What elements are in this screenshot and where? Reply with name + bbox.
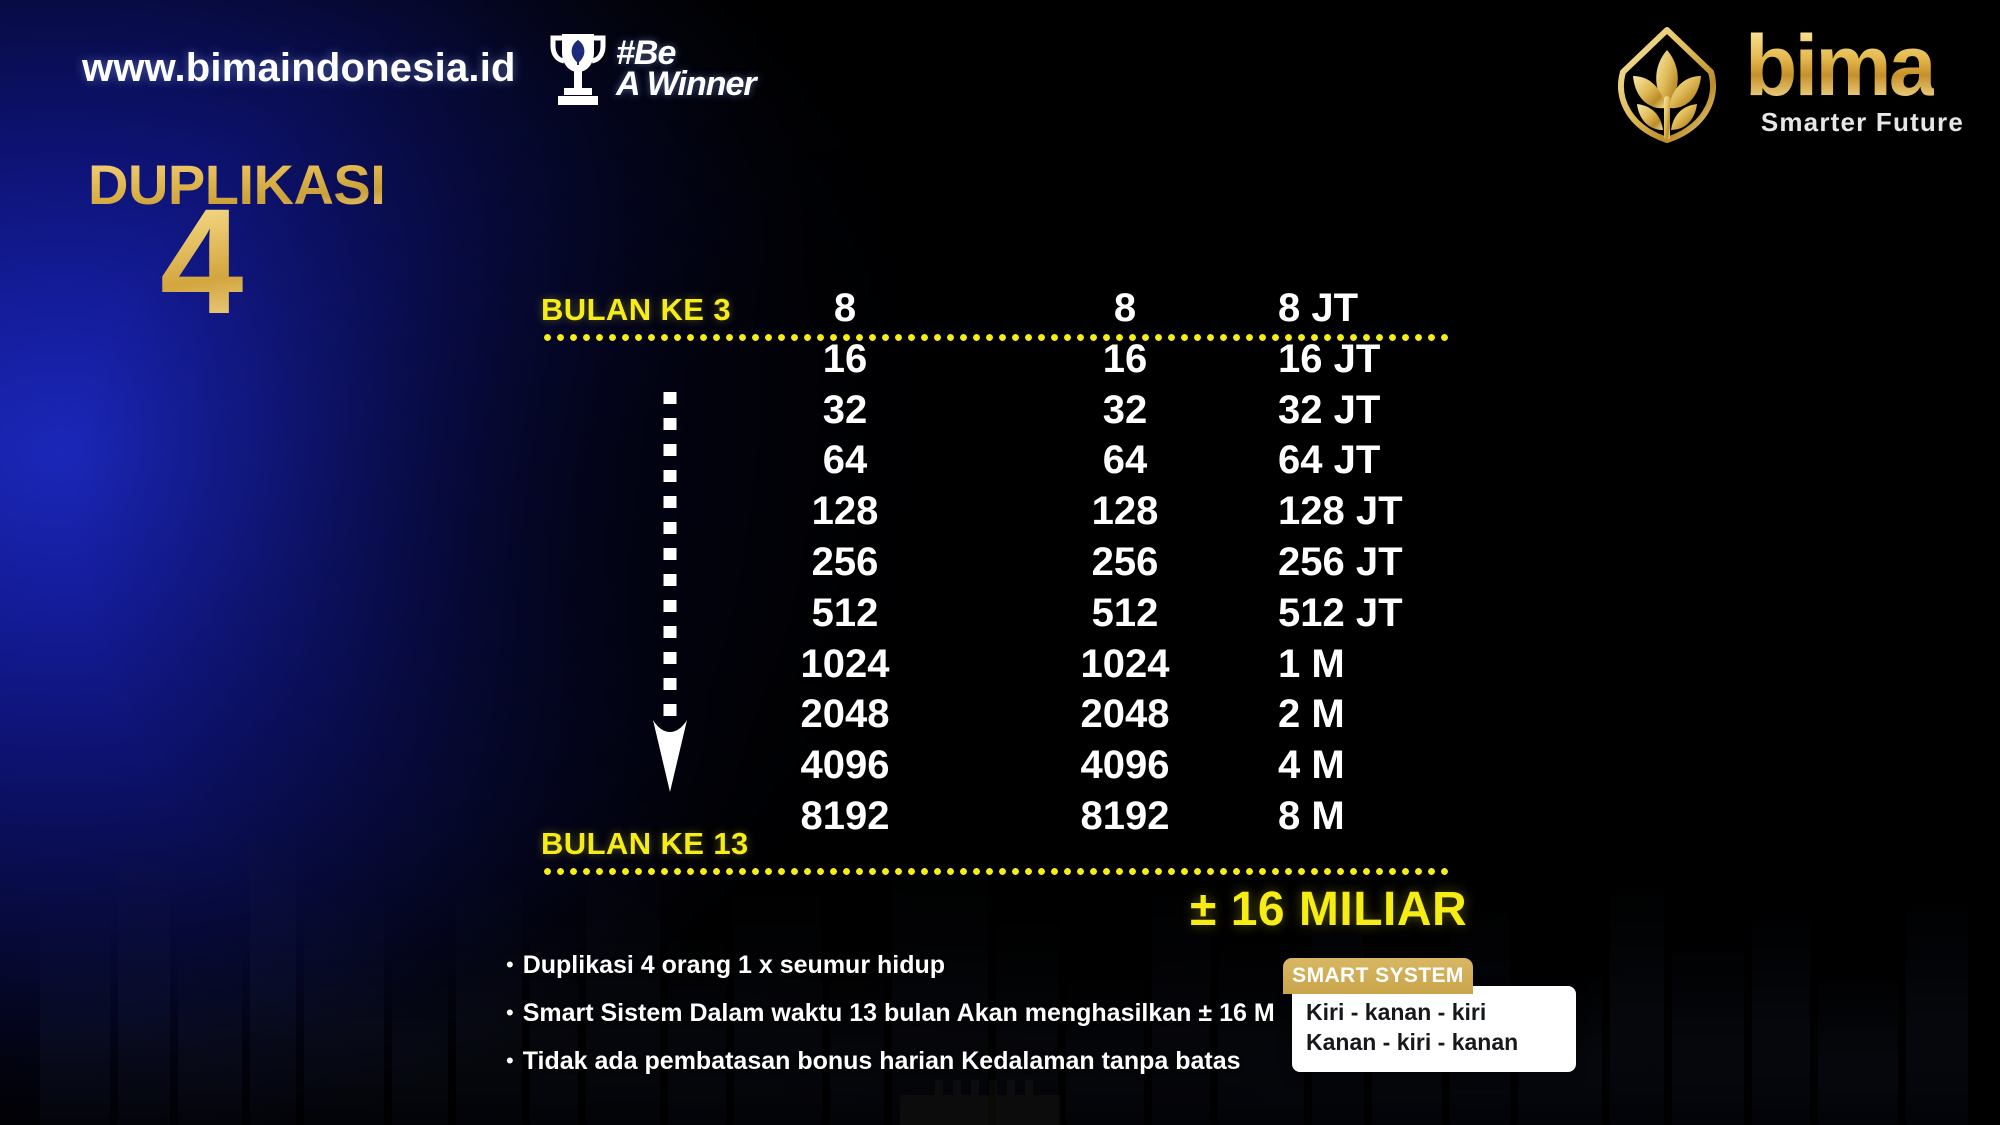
downline-count-right: 1024 <box>1020 642 1230 687</box>
smart-system-tab-label: SMART SYSTEM <box>1292 964 1464 988</box>
divider-bottom <box>541 868 1453 875</box>
table-row: 323232 JT <box>0 388 2000 440</box>
table-row: 128128128 JT <box>0 489 2000 541</box>
list-item-label: Duplikasi 4 orang 1 x seumur hidup <box>523 950 945 980</box>
income-value: 16 JT <box>1278 337 1380 382</box>
downline-count-right: 32 <box>1020 388 1230 433</box>
downline-count-left: 2048 <box>740 692 950 737</box>
downline-count-right: 16 <box>1020 337 1230 382</box>
slide-canvas: www.bimaindonesia.id #Be A Winner <box>0 0 2000 1125</box>
list-item-label: Tidak ada pembatasan bonus harian Kedala… <box>523 1046 1241 1076</box>
downline-count-left: 4096 <box>740 743 950 788</box>
downline-count-right: 512 <box>1020 591 1230 636</box>
income-value: 128 JT <box>1278 489 1403 534</box>
downline-count-left: 16 <box>740 337 950 382</box>
divider-top <box>541 334 1453 341</box>
table-row: 256256256 JT <box>0 540 2000 592</box>
bima-leaf-icon <box>1603 20 1731 148</box>
total-amount: ± 16 MILIAR <box>1190 882 1467 937</box>
income-value: 2 M <box>1278 692 1345 737</box>
be-a-winner-badge: #Be A Winner <box>548 30 756 108</box>
downline-count-left: 1024 <box>740 642 950 687</box>
bullet-dot-icon: • <box>506 1046 514 1076</box>
income-value: 1 M <box>1278 642 1345 687</box>
table-row: 102410241 M <box>0 642 2000 694</box>
bullet-dot-icon: • <box>506 998 514 1028</box>
bullet-dot-icon: • <box>506 950 514 980</box>
smart-system-line-2: Kanan - kiri - kanan <box>1306 1028 1562 1058</box>
benefits-list: •Duplikasi 4 orang 1 x seumur hidup•Smar… <box>506 950 1266 1094</box>
total-value: 16 MILIAR <box>1231 883 1468 936</box>
label-bulan-ke-3: BULAN KE 3 <box>541 292 731 328</box>
downline-count-right: 2048 <box>1020 692 1230 737</box>
smart-system-line-1: Kiri - kanan - kiri <box>1306 998 1562 1028</box>
smart-system-tab: SMART SYSTEM <box>1283 958 1473 994</box>
income-value: 512 JT <box>1278 591 1403 636</box>
list-item-label: Smart Sistem Dalam waktu 13 bulan Akan m… <box>523 998 1275 1028</box>
winner-line-2: A Winner <box>616 69 756 100</box>
downline-count-right: 256 <box>1020 540 1230 585</box>
downline-count-right: 8 <box>1020 286 1230 331</box>
downline-count-right: 8192 <box>1020 794 1230 839</box>
label-bulan-ke-13: BULAN KE 13 <box>541 826 749 862</box>
bima-logo: bima Smarter Future <box>1603 20 1964 148</box>
table-row: 888 JT <box>0 286 2000 338</box>
be-a-winner-text: #Be A Winner <box>616 38 756 101</box>
trophy-icon <box>548 30 608 108</box>
page-title-number: 4 <box>160 186 243 336</box>
plus-minus-sign: ± <box>1190 883 1217 936</box>
downline-count-right: 128 <box>1020 489 1230 534</box>
downline-count-right: 64 <box>1020 438 1230 483</box>
downline-count-left: 512 <box>740 591 950 636</box>
bima-wordmark: bima Smarter Future <box>1745 30 1964 139</box>
list-item: •Duplikasi 4 orang 1 x seumur hidup <box>506 950 1266 980</box>
table-row: 646464 JT <box>0 438 2000 490</box>
bima-tagline: Smarter Future <box>1761 107 1964 138</box>
table-row: 161616 JT <box>0 337 2000 389</box>
down-arrow-dashed-icon <box>653 392 687 792</box>
income-value: 256 JT <box>1278 540 1403 585</box>
income-value: 4 M <box>1278 743 1345 788</box>
downline-count-left: 64 <box>740 438 950 483</box>
downline-count-left: 128 <box>740 489 950 534</box>
site-url-text: www.bimaindonesia.id <box>82 46 516 91</box>
income-value: 8 M <box>1278 794 1345 839</box>
list-item: •Tidak ada pembatasan bonus harian Kedal… <box>506 1046 1266 1076</box>
downline-count-left: 256 <box>740 540 950 585</box>
income-value: 64 JT <box>1278 438 1380 483</box>
downline-count-left: 8192 <box>740 794 950 839</box>
smart-system-body: Kiri - kanan - kiri Kanan - kiri - kanan <box>1292 986 1576 1072</box>
list-item: •Smart Sistem Dalam waktu 13 bulan Akan … <box>506 998 1266 1028</box>
table-row: 204820482 M <box>0 692 2000 744</box>
income-value: 8 JT <box>1278 286 1358 331</box>
table-row: 409640964 M <box>0 743 2000 795</box>
income-value: 32 JT <box>1278 388 1380 433</box>
downline-count-right: 4096 <box>1020 743 1230 788</box>
table-row: 819281928 M <box>0 794 2000 846</box>
bima-brand-name: bima <box>1745 30 1934 104</box>
table-row: 512512512 JT <box>0 591 2000 643</box>
downline-count-left: 8 <box>740 286 950 331</box>
downline-count-left: 32 <box>740 388 950 433</box>
